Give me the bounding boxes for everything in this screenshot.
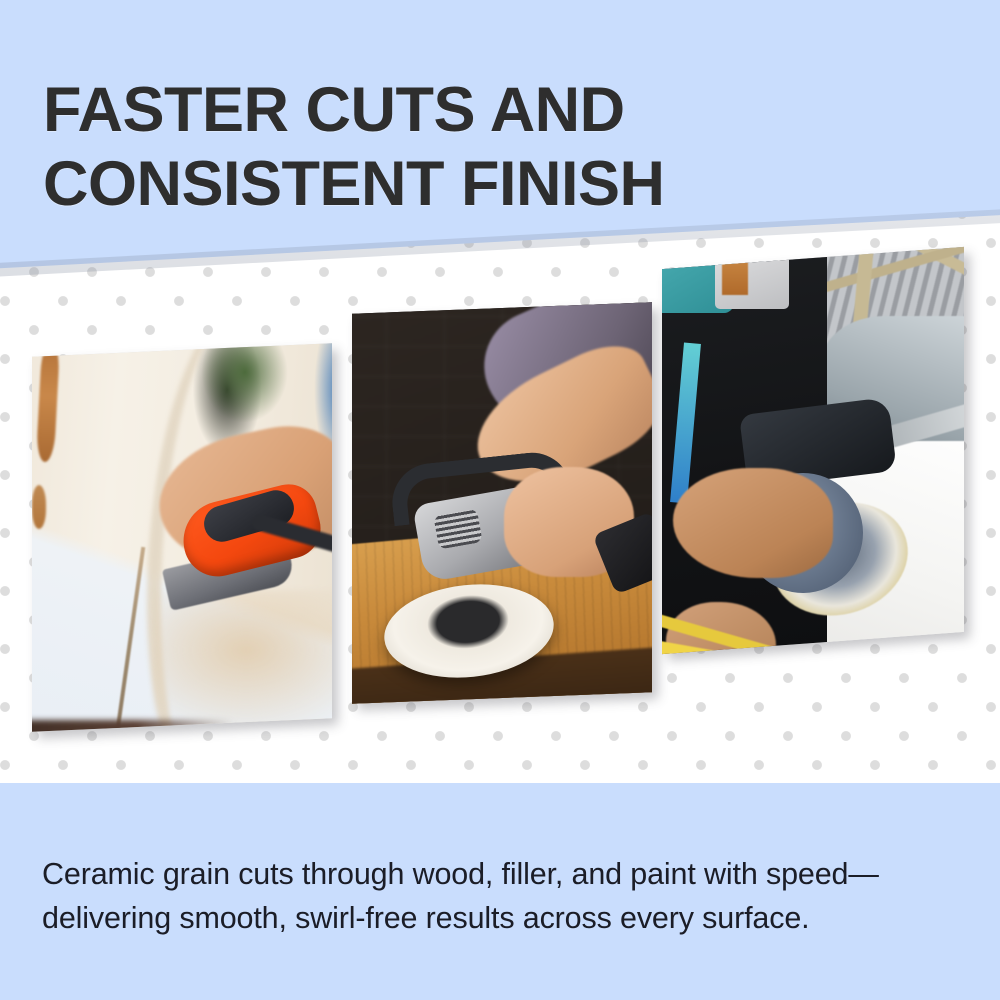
rust-streak-shape <box>36 343 60 462</box>
product-feature-infographic: FASTER CUTS AND CONSISTENT FINISH <box>0 0 1000 1000</box>
rust-drip-shape <box>32 485 46 529</box>
photo-rotary-polisher-image <box>352 302 652 704</box>
foreground-shadow-shape <box>32 720 234 732</box>
caption-text: Ceramic grain cuts through wood, filler,… <box>42 852 922 942</box>
tool-pouch-stripe-shape <box>722 247 748 296</box>
gallery-photo-rotary-polisher <box>352 302 652 704</box>
photo-car-polishing-image <box>662 247 964 654</box>
photo-palm-sander-image <box>32 343 332 732</box>
surface-crack-shape <box>111 547 146 732</box>
sanding-dust-shape <box>154 590 332 732</box>
page-title: FASTER CUTS AND CONSISTENT FINISH <box>43 74 923 221</box>
gallery-photo-palm-sander <box>32 343 332 732</box>
caption-panel: Ceramic grain cuts through wood, filler,… <box>0 783 1000 1000</box>
photo-gallery <box>0 230 1000 750</box>
gallery-photo-car-polishing <box>662 247 964 654</box>
